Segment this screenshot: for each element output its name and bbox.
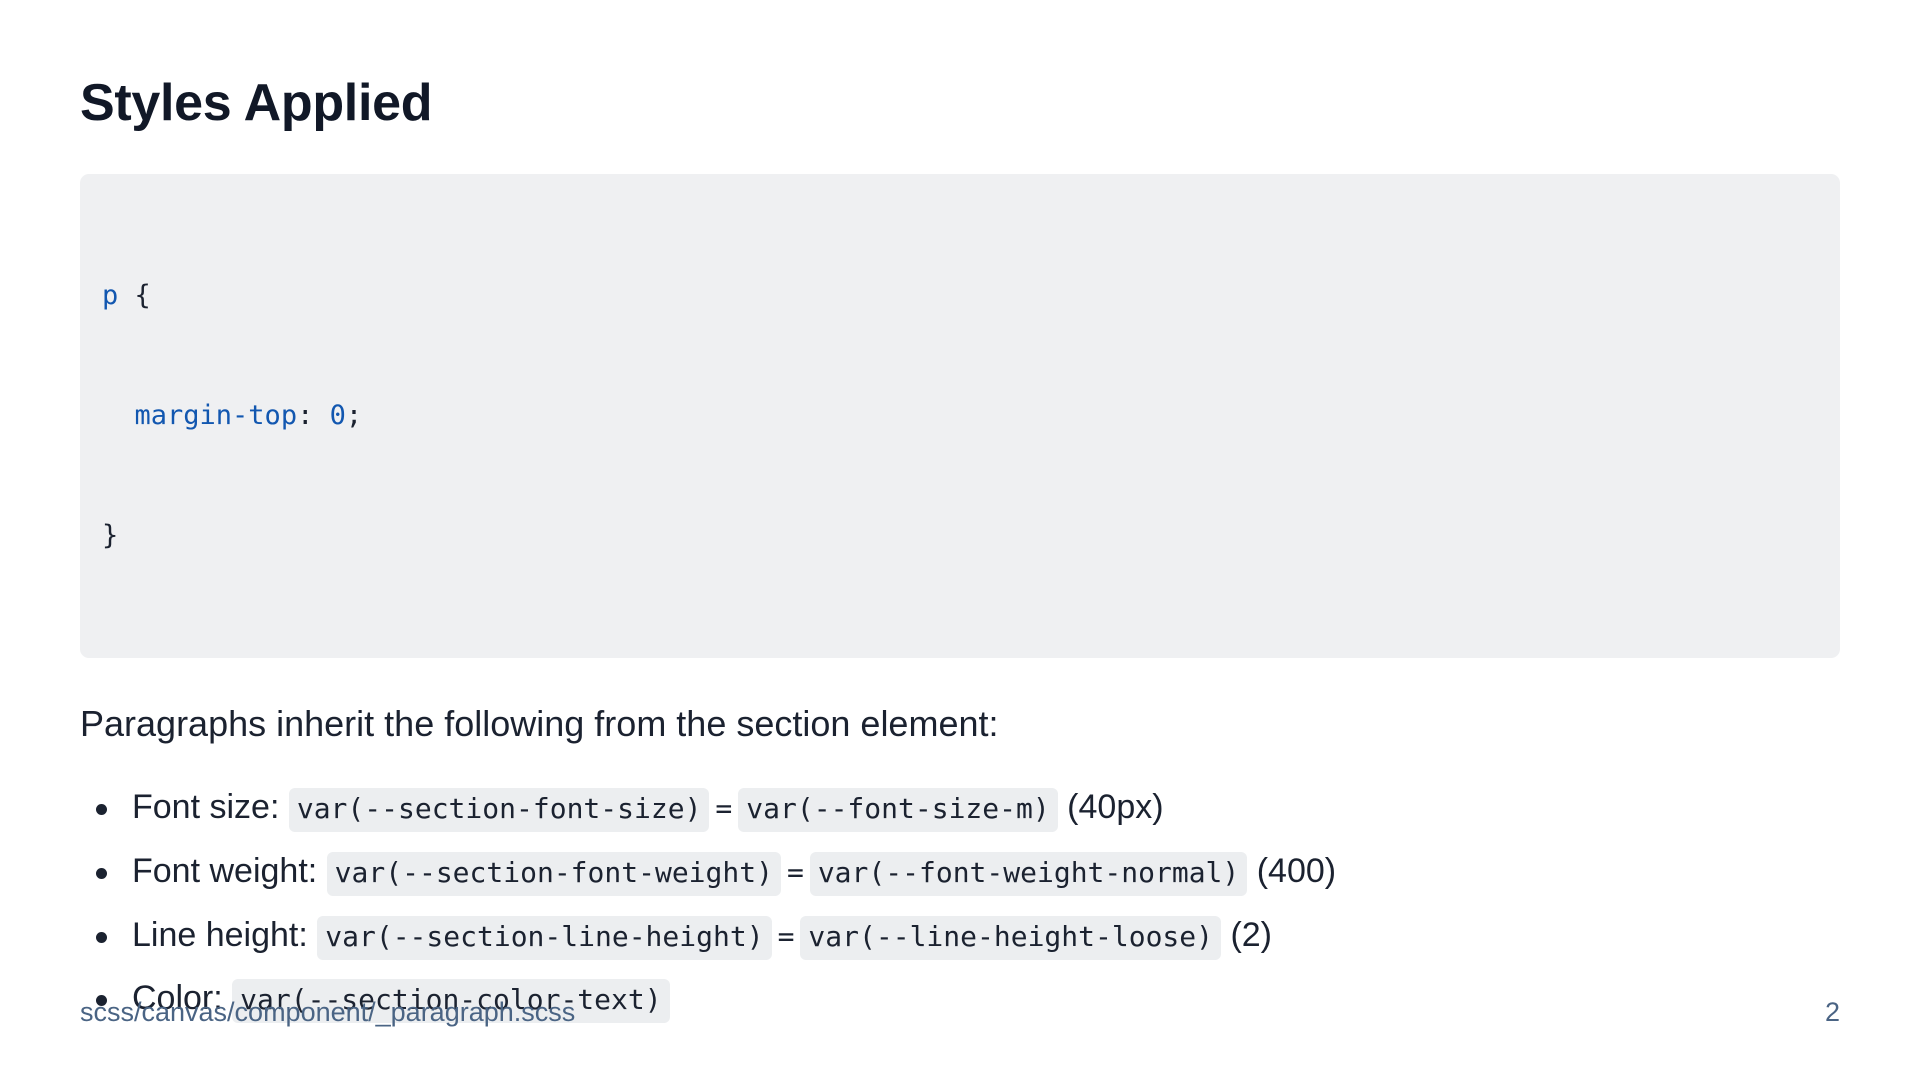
lead-paragraph: Paragraphs inherit the following from th… [80,658,1840,749]
source-var-chip: var(--section-font-weight) [327,852,781,896]
footer-page-number: 2 [1825,997,1840,1028]
code-token-selector: p [102,280,118,311]
source-var-chip: var(--section-line-height) [317,916,771,960]
code-line-2: margin-top: 0; [102,396,1818,436]
bullet-label: Line height: [132,916,308,954]
code-token-value: 0 [330,400,346,431]
equals-sign: = [709,792,738,825]
slide-footer: scss/canvas/component/_paragraph.scss 2 [80,997,1840,1028]
resolved-value: (40px) [1067,788,1163,826]
slide: Styles Applied p { margin-top: 0; } Para… [0,0,1920,1080]
bullet-label: Font size: [132,788,279,826]
footer-file-path: scss/canvas/component/_paragraph.scss [80,997,575,1028]
code-block: p { margin-top: 0; } [80,174,1840,657]
code-token-punct: { [118,280,151,311]
bullet-label: Font weight: [132,852,317,890]
code-token-colon: : [297,400,330,431]
page-title: Styles Applied [80,0,1840,134]
target-var-chip: var(--line-height-loose) [800,916,1221,960]
list-item: Font size: var(--section-font-size)=var(… [80,782,1840,834]
inherited-styles-list: Font size: var(--section-font-size)=var(… [80,748,1840,1025]
resolved-value: (400) [1257,852,1336,890]
code-token-property: margin-top [135,400,298,431]
code-token-semicolon: ; [346,400,362,431]
list-item: Font weight: var(--section-font-weight)=… [80,846,1840,898]
source-var-chip: var(--section-font-size) [289,788,710,832]
target-var-chip: var(--font-size-m) [738,788,1057,832]
code-token-close-brace: } [102,520,118,551]
target-var-chip: var(--font-weight-normal) [810,852,1247,896]
slide-content: Styles Applied p { margin-top: 0; } Para… [80,0,1840,1037]
equals-sign: = [772,920,801,953]
resolved-value: (2) [1230,916,1272,954]
list-item: Line height: var(--section-line-height)=… [80,910,1840,962]
code-line-1: p { [102,276,1818,316]
equals-sign: = [781,856,810,889]
code-token-indent [102,400,135,431]
code-line-3: } [102,516,1818,556]
